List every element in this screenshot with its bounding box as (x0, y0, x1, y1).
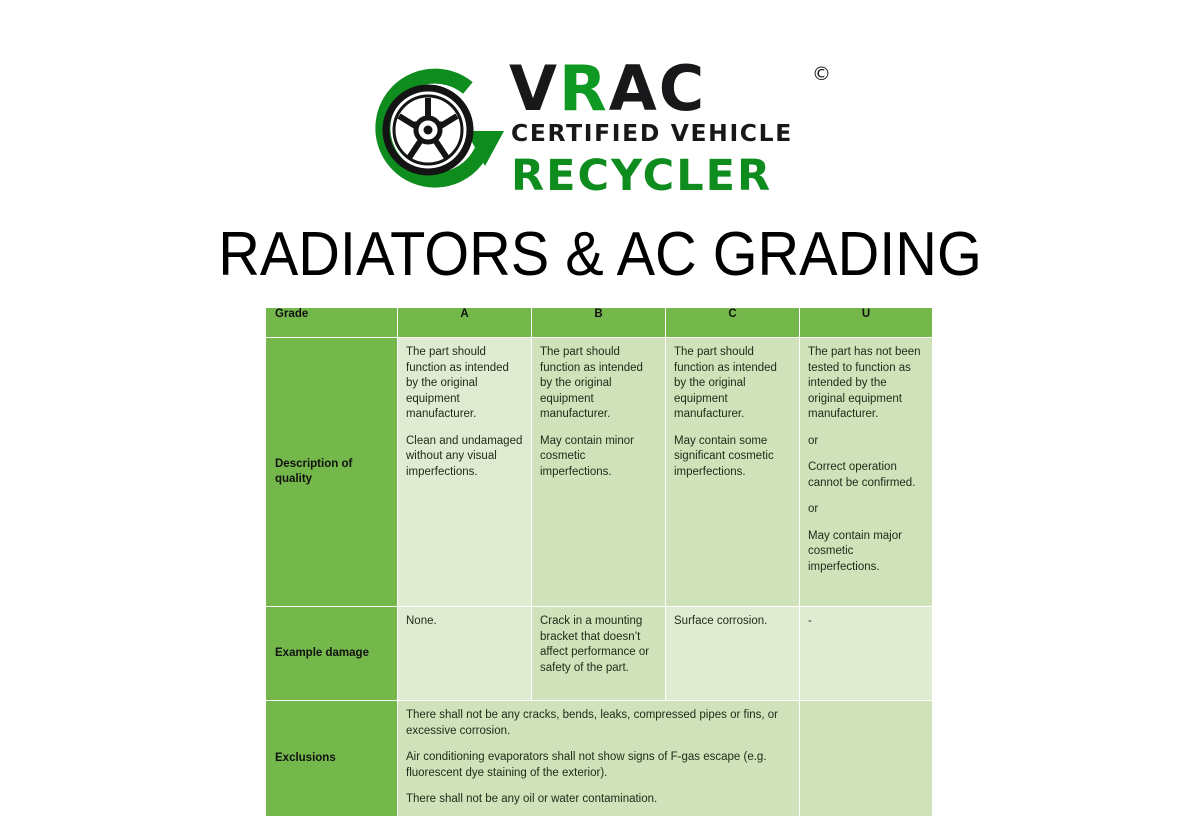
row-label-description: Description of quality (266, 338, 398, 607)
cell-damage-u: - (800, 607, 933, 701)
table-header-row: Grade A B C U (266, 308, 933, 338)
logo-tagline: CERTIFIED VEHICLE (511, 121, 793, 147)
cell-paragraph: or (808, 434, 924, 450)
cell-paragraph: May contain minor cosmetic imperfections… (540, 434, 657, 481)
cell-paragraph: Clean and undamaged without any visual i… (406, 434, 523, 481)
logo-recycler-word: RECYCLER (511, 151, 772, 201)
table-row-description: Description of quality The part should f… (266, 338, 933, 607)
logo-letter-r: R (559, 52, 609, 125)
brand-logo: VRAC © CERTIFIED VEHICLE RECYCLER (0, 58, 1200, 203)
cell-paragraph: - (808, 614, 924, 630)
cell-paragraph: None. (406, 614, 523, 630)
table-header: Grade A B C U (266, 308, 933, 338)
cell-paragraph: The part should function as intended by … (540, 345, 657, 423)
logo-vrac-line: VRAC (509, 58, 706, 120)
cell-paragraph: May contain some significant cosmetic im… (674, 434, 791, 481)
recycling-wheel-icon (361, 58, 509, 198)
logo-letter-v: V (509, 52, 559, 125)
cell-exclusions-merged: There shall not be any cracks, bends, le… (398, 701, 800, 817)
table-row-exclusions: Exclusions There shall not be any cracks… (266, 701, 933, 817)
cell-description-b: The part should function as intended by … (532, 338, 666, 607)
cell-paragraph: Correct operation cannot be confirmed. (808, 460, 924, 491)
cell-damage-c: Surface corrosion. (666, 607, 800, 701)
column-header-c: C (666, 308, 800, 338)
column-header-grade: Grade (266, 308, 398, 338)
cell-damage-a: None. (398, 607, 532, 701)
copyright-icon: © (812, 63, 831, 85)
cell-paragraph: Crack in a mounting bracket that doesn’t… (540, 614, 657, 676)
table-row-example-damage: Example damage None. Crack in a mounting… (266, 607, 933, 701)
cell-paragraph: The part should function as intended by … (406, 345, 523, 423)
column-header-u: U (800, 308, 933, 338)
cell-description-u: The part has not been tested to function… (800, 338, 933, 607)
cell-paragraph: The part should function as intended by … (674, 345, 791, 423)
table-body: Description of quality The part should f… (266, 338, 933, 817)
cell-description-c: The part should function as intended by … (666, 338, 800, 607)
cell-paragraph: There shall not be any cracks, bends, le… (406, 708, 791, 739)
cell-exclusions-u (800, 701, 933, 817)
column-header-a: A (398, 308, 532, 338)
cell-damage-b: Crack in a mounting bracket that doesn’t… (532, 607, 666, 701)
logo-inner: VRAC © CERTIFIED VEHICLE RECYCLER (361, 58, 839, 198)
grading-table: Grade A B C U Description of quality The… (265, 307, 933, 817)
cell-paragraph: The part has not been tested to function… (808, 345, 924, 423)
cell-paragraph: or (808, 502, 924, 518)
cell-description-a: The part should function as intended by … (398, 338, 532, 607)
cell-paragraph: May contain major cosmetic imperfections… (808, 529, 924, 576)
row-label-exclusions: Exclusions (266, 701, 398, 817)
cell-paragraph: Air conditioning evaporators shall not s… (406, 750, 791, 781)
row-label-example-damage: Example damage (266, 607, 398, 701)
cell-paragraph: Surface corrosion. (674, 614, 791, 630)
column-header-b: B (532, 308, 666, 338)
logo-wordmark: VRAC © CERTIFIED VEHICLE RECYCLER (509, 58, 839, 198)
recycling-wheel-svg (361, 58, 509, 198)
page-title: RADIATORS & AC GRADING (42, 219, 1158, 291)
logo-letters-ac: AC (609, 52, 706, 125)
